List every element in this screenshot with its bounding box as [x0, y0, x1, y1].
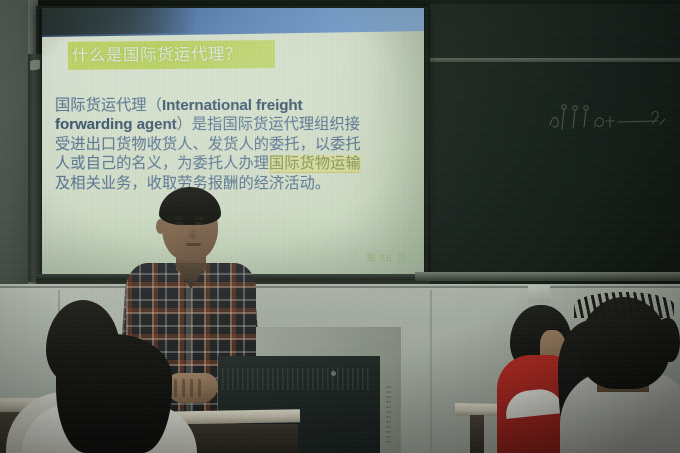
lectern-screw: [331, 371, 336, 376]
slide-body-english-term: forwarding agent: [55, 116, 177, 133]
lecturer-finger-3: [190, 379, 193, 397]
slide-body-highlight: 国际货物运输: [269, 155, 361, 173]
desk-center-support: [180, 424, 298, 453]
classroom-photo-scene: 什么是国际货运代理？ 国际货运代理（International freightf…: [0, 0, 680, 453]
slide-body-chinese-text: 人或自己的名义，为委托人办理: [55, 155, 269, 172]
lecturer-finger-1: [174, 379, 177, 397]
blackboard-right-panel: [430, 4, 680, 286]
student-front-left-long-hair: [56, 334, 172, 453]
wall-notice: [528, 285, 550, 303]
blackboard-top-rail: [430, 58, 680, 62]
slide-body-english-term: International freight: [162, 97, 303, 114]
slide-body-line-2: forwarding agent）是指国际货运代理组织接: [55, 115, 413, 134]
lectern-vents: [222, 368, 372, 390]
lecturer-hair: [159, 187, 221, 225]
screen-bezel-glint: [30, 59, 40, 70]
lecturer-mouth: [186, 243, 201, 246]
slide-body-chinese-text: ）是指国际货运代理组织接: [177, 116, 360, 133]
student-front-right-hair: [574, 292, 674, 318]
slide-body-chinese-text: 国际货运代理（: [55, 97, 162, 114]
lecturer-eye-left: [175, 222, 183, 225]
slide-header-shadow: [42, 8, 196, 35]
chalk-writing: [540, 95, 670, 145]
slide-body-line-1: 国际货运代理（International freight: [55, 96, 413, 115]
lecturer-finger-4: [198, 379, 201, 397]
lecturer-eyebrow-right: [194, 217, 204, 220]
slide-title: 什么是国际货运代理？: [72, 43, 282, 67]
slide-body-line-4: 人或自己的名义，为委托人办理国际货物运输: [55, 154, 413, 173]
screen-left-bezel: [28, 54, 42, 282]
wall-seam-line: [0, 286, 680, 288]
slide-body-line-3: 受进出口货物收货人、发货人的委托，以委托: [55, 135, 413, 154]
lectern-edge-markings: [386, 386, 391, 444]
blackboard-chalk-tray: [415, 272, 680, 281]
lecturer-eyebrow-left: [174, 217, 184, 220]
lecturer-ear: [156, 219, 165, 234]
lecturer-nose: [189, 227, 196, 239]
lecturer-eye-right: [195, 222, 203, 225]
slide-page-number: 第 16 页: [366, 250, 407, 264]
desk-right-support: [470, 415, 484, 453]
lecturer-finger-2: [182, 379, 185, 397]
wall-panel-line-3: [430, 290, 432, 453]
slide-body-text: 国际货运代理（International freightforwarding a…: [55, 96, 413, 193]
